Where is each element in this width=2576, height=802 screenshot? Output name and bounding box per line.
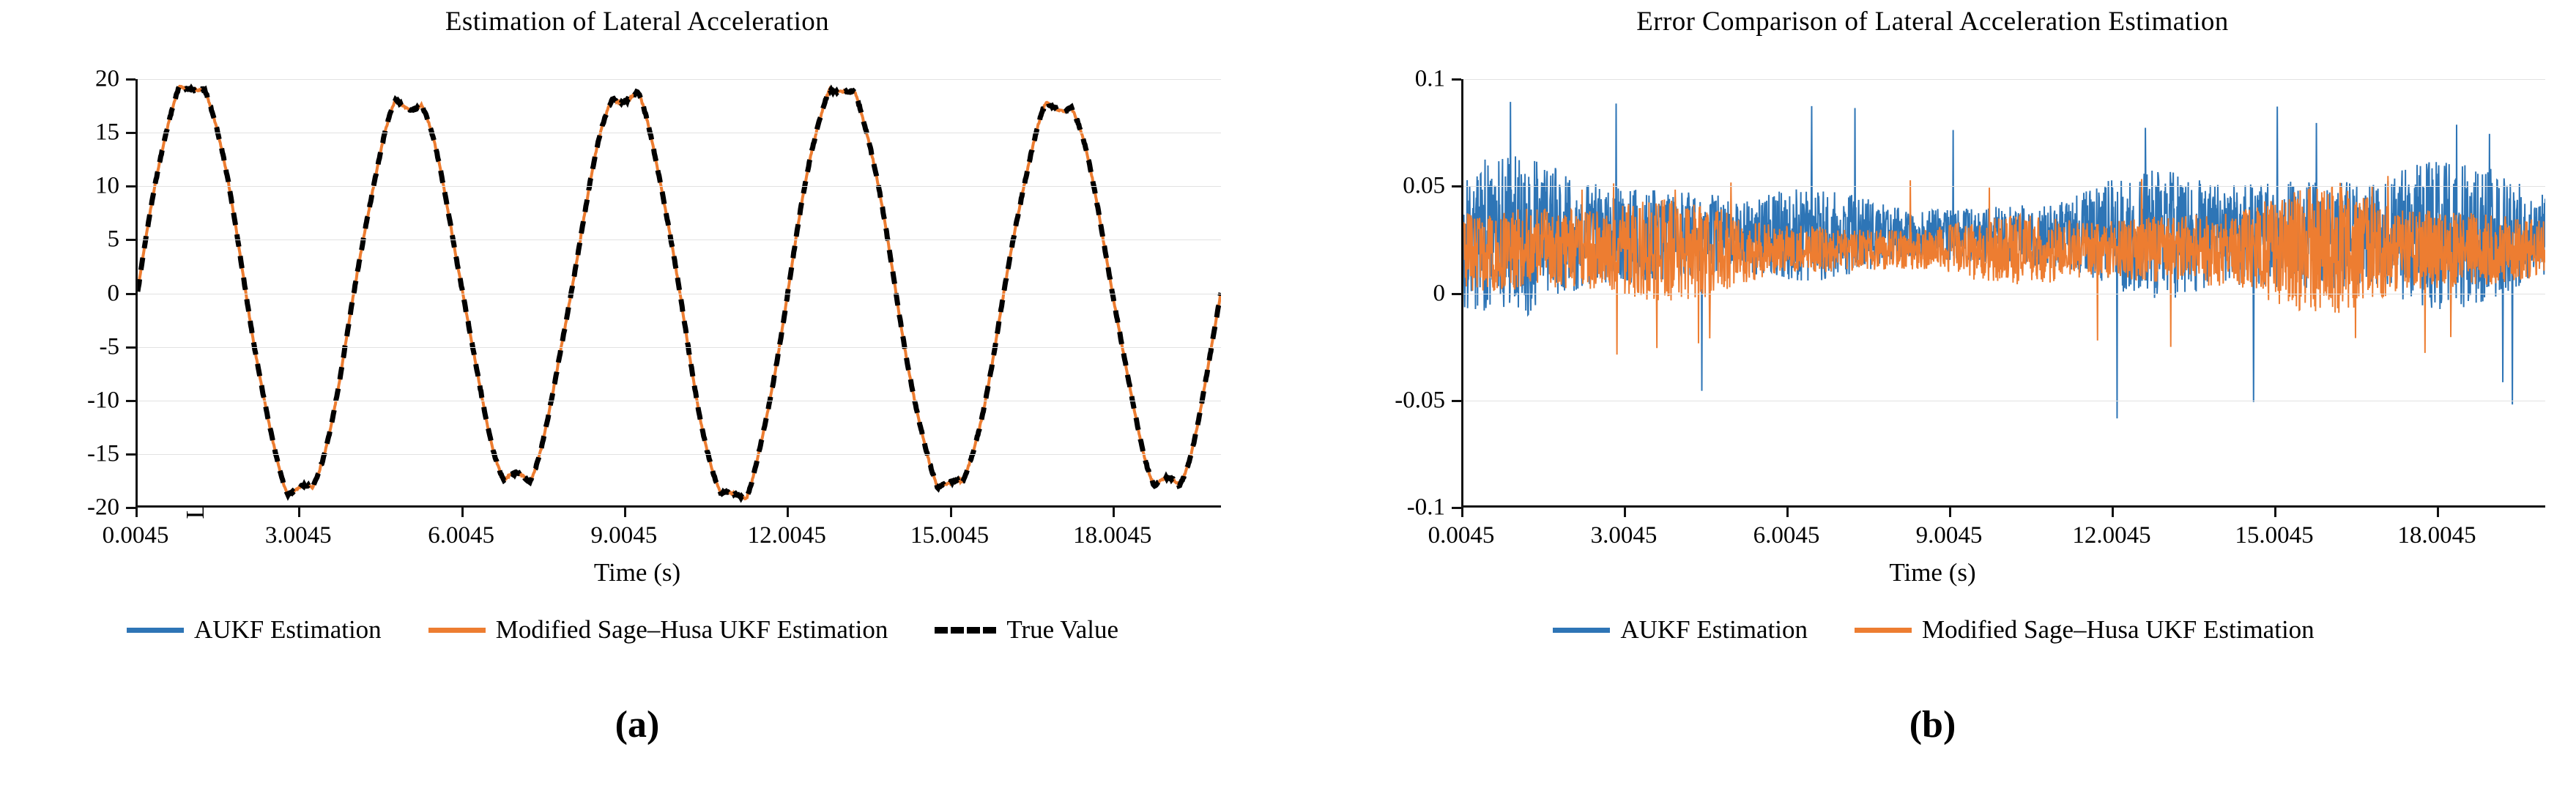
plot-wrap-a: Lateral Acceleration (m/s^2) -20-15-10-5… bbox=[136, 79, 1221, 508]
x-tick-mark bbox=[1949, 508, 1951, 517]
x-tick-label: 12.0045 bbox=[2072, 522, 2150, 549]
y-tick-label: -20 bbox=[87, 494, 119, 521]
x-tick-label: 3.0045 bbox=[265, 522, 332, 549]
y-tick-label: -0.1 bbox=[1407, 494, 1445, 521]
y-tick-mark bbox=[126, 185, 136, 187]
gridline bbox=[1463, 401, 2545, 401]
legend-label: Modified Sage–Husa UKF Estimation bbox=[496, 615, 888, 645]
y-tick-label: -15 bbox=[87, 440, 119, 467]
x-tick-mark bbox=[1113, 508, 1115, 517]
legend-label: AUKF Estimation bbox=[1620, 615, 1808, 645]
legend-swatch-dashed-line-icon bbox=[935, 627, 996, 634]
y-tick-mark bbox=[1452, 185, 1461, 187]
chart-title-b: Error Comparison of Lateral Acceleration… bbox=[1289, 6, 2576, 37]
x-tick-label: 3.0045 bbox=[1591, 522, 1658, 549]
x-tick-mark bbox=[2112, 508, 2114, 517]
y-tick-mark bbox=[126, 507, 136, 509]
series-line bbox=[138, 86, 1221, 499]
subcaption-b: (b) bbox=[1289, 703, 2576, 746]
y-tick-label: 0.1 bbox=[1415, 66, 1445, 93]
series-canvas-a bbox=[138, 79, 1221, 505]
legend-item[interactable]: AUKF Estimation bbox=[1553, 615, 1808, 645]
y-tick-mark bbox=[1452, 293, 1461, 295]
figure-two-panel-chart: Estimation of Lateral Acceleration Later… bbox=[0, 0, 2576, 802]
x-tick-mark bbox=[1461, 508, 1463, 517]
x-tick-label: 0.0045 bbox=[1428, 522, 1495, 549]
y-tick-mark bbox=[126, 453, 136, 456]
y-tick-label: 5 bbox=[108, 226, 120, 253]
legend-swatch-solid-line-icon bbox=[127, 628, 184, 633]
legend-item[interactable]: Modified Sage–Husa UKF Estimation bbox=[428, 615, 888, 645]
y-tick-label: 15 bbox=[95, 119, 119, 146]
y-tick-mark bbox=[126, 239, 136, 241]
y-tick-label: 0.05 bbox=[1403, 173, 1445, 200]
x-tick-label: 18.0045 bbox=[2397, 522, 2476, 549]
x-axis-title-b: Time (s) bbox=[1289, 558, 2576, 587]
gridline bbox=[138, 401, 1221, 401]
series-line bbox=[1463, 176, 2545, 354]
x-tick-label: 6.0045 bbox=[428, 522, 494, 549]
y-tick-mark bbox=[126, 400, 136, 402]
legend-swatch-solid-line-icon bbox=[1855, 628, 1912, 633]
x-tick-mark bbox=[1786, 508, 1789, 517]
legend-label: True Value bbox=[1006, 615, 1118, 645]
legend-swatch-solid-line-icon bbox=[1553, 628, 1610, 633]
gridline bbox=[138, 294, 1221, 294]
x-tick-mark bbox=[298, 508, 300, 517]
y-tick-label: 20 bbox=[95, 66, 119, 93]
x-tick-label: 9.0045 bbox=[1916, 522, 1983, 549]
y-tick-label: -10 bbox=[87, 387, 119, 414]
legend-item[interactable]: Modified Sage–Husa UKF Estimation bbox=[1855, 615, 2315, 645]
y-tick-mark bbox=[126, 293, 136, 295]
x-tick-mark bbox=[624, 508, 626, 517]
x-tick-mark bbox=[787, 508, 789, 517]
y-tick-mark bbox=[126, 346, 136, 349]
gridline bbox=[138, 347, 1221, 348]
x-tick-mark bbox=[136, 508, 138, 517]
legend-swatch-solid-line-icon bbox=[428, 628, 486, 633]
y-tick-mark bbox=[126, 132, 136, 134]
x-tick-mark bbox=[950, 508, 952, 517]
legend-item[interactable]: AUKF Estimation bbox=[127, 615, 382, 645]
chart-title-a: Estimation of Lateral Acceleration bbox=[0, 6, 1274, 37]
x-tick-label: 9.0045 bbox=[591, 522, 658, 549]
x-tick-label: 18.0045 bbox=[1073, 522, 1151, 549]
y-tick-mark bbox=[126, 78, 136, 81]
x-tick-label: 12.0045 bbox=[748, 522, 826, 549]
gridline bbox=[1463, 186, 2545, 187]
gridline bbox=[1463, 79, 2545, 80]
gridline bbox=[138, 186, 1221, 187]
legend-label: Modified Sage–Husa UKF Estimation bbox=[1922, 615, 2315, 645]
plot-area-b bbox=[1461, 79, 2545, 508]
subcaption-a: (a) bbox=[0, 703, 1274, 746]
x-tick-mark bbox=[2274, 508, 2276, 517]
y-tick-mark bbox=[1452, 507, 1461, 509]
panel-b: Error Comparison of Lateral Acceleration… bbox=[1289, 0, 2576, 802]
plot-wrap-b: Error (m/s^2) -0.1-0.0500.050.1 0.00453.… bbox=[1461, 79, 2545, 508]
y-tick-mark bbox=[1452, 78, 1461, 81]
gridline bbox=[1463, 294, 2545, 294]
legend-b: AUKF EstimationModified Sage–Husa UKF Es… bbox=[1377, 615, 2490, 645]
plot-area-a bbox=[136, 79, 1221, 508]
gridline bbox=[138, 454, 1221, 455]
y-tick-mark bbox=[1452, 400, 1461, 402]
legend-label: AUKF Estimation bbox=[194, 615, 382, 645]
panel-a: Estimation of Lateral Acceleration Later… bbox=[0, 0, 1274, 802]
x-tick-mark bbox=[461, 508, 464, 517]
y-tick-label: -0.05 bbox=[1395, 387, 1445, 414]
y-tick-label: -5 bbox=[100, 333, 120, 360]
x-tick-label: 15.0045 bbox=[2235, 522, 2313, 549]
legend-item[interactable]: True Value bbox=[935, 615, 1118, 645]
y-tick-label: 0 bbox=[1433, 280, 1446, 307]
gridline bbox=[138, 240, 1221, 240]
gridline bbox=[138, 133, 1221, 133]
x-tick-mark bbox=[2437, 508, 2439, 517]
legend-a: AUKF EstimationModified Sage–Husa UKF Es… bbox=[7, 615, 1238, 645]
y-tick-label: 0 bbox=[108, 280, 120, 307]
x-axis-title-a: Time (s) bbox=[0, 558, 1274, 587]
x-tick-label: 15.0045 bbox=[910, 522, 989, 549]
gridline bbox=[138, 79, 1221, 80]
series-canvas-b bbox=[1463, 79, 2545, 505]
y-tick-label: 10 bbox=[95, 173, 119, 200]
x-tick-label: 0.0045 bbox=[103, 522, 169, 549]
x-tick-label: 6.0045 bbox=[1753, 522, 1820, 549]
x-tick-mark bbox=[1624, 508, 1626, 517]
